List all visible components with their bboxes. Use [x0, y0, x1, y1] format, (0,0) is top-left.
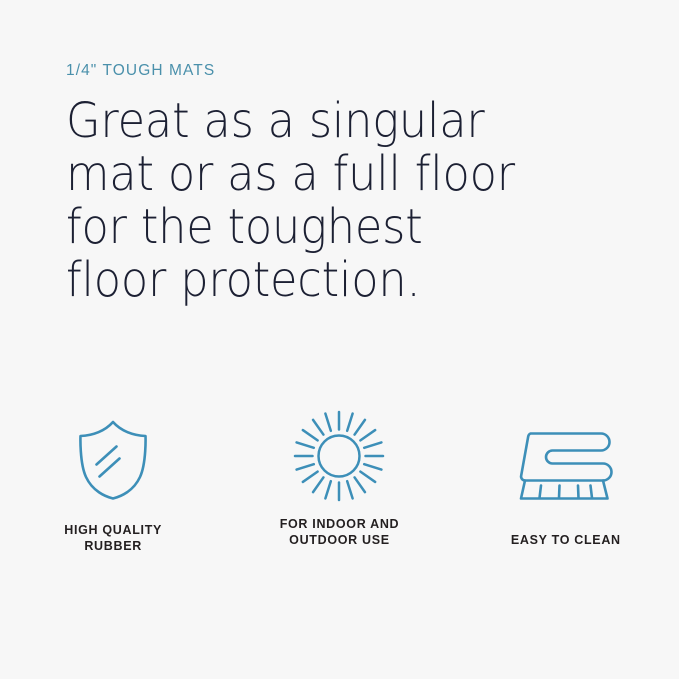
feature-item-easy-to-clean: EASY TO CLEAN: [453, 412, 679, 548]
feature-caption-line-1: HIGH QUALITY: [64, 522, 162, 538]
feature-list: HIGH QUALITY RUBBER: [0, 412, 679, 554]
feature-caption-line-2: OUTDOOR USE: [280, 532, 400, 548]
feature-item-high-quality-rubber: HIGH QUALITY RUBBER: [0, 412, 226, 554]
feature-caption-line-1: EASY TO CLEAN: [511, 532, 621, 548]
sun-icon: [293, 408, 385, 504]
brush-icon: [519, 418, 613, 514]
headline-line-3: for the toughest: [66, 201, 550, 254]
page-title: Great as a singular mat or as a full flo…: [66, 95, 550, 307]
feature-caption: EASY TO CLEAN: [511, 532, 621, 548]
headline-line-2: mat or as a full floor: [66, 148, 550, 201]
product-feature-banner: 1/4" TOUGH MATS Great as a singular mat …: [0, 0, 679, 679]
shield-icon: [75, 412, 151, 508]
eyebrow-label: 1/4" TOUGH MATS: [66, 62, 586, 81]
feature-caption-line-1: FOR INDOOR AND: [280, 516, 400, 532]
feature-caption-line-2: RUBBER: [64, 538, 162, 554]
headline-line-1: Great as a singular: [66, 95, 550, 148]
feature-item-indoor-outdoor: FOR INDOOR AND OUTDOOR USE: [226, 412, 452, 548]
copy-block: 1/4" TOUGH MATS Great as a singular mat …: [66, 62, 586, 307]
feature-caption: HIGH QUALITY RUBBER: [64, 522, 162, 554]
headline-line-4: floor protection.: [66, 254, 550, 307]
feature-caption: FOR INDOOR AND OUTDOOR USE: [280, 516, 400, 548]
